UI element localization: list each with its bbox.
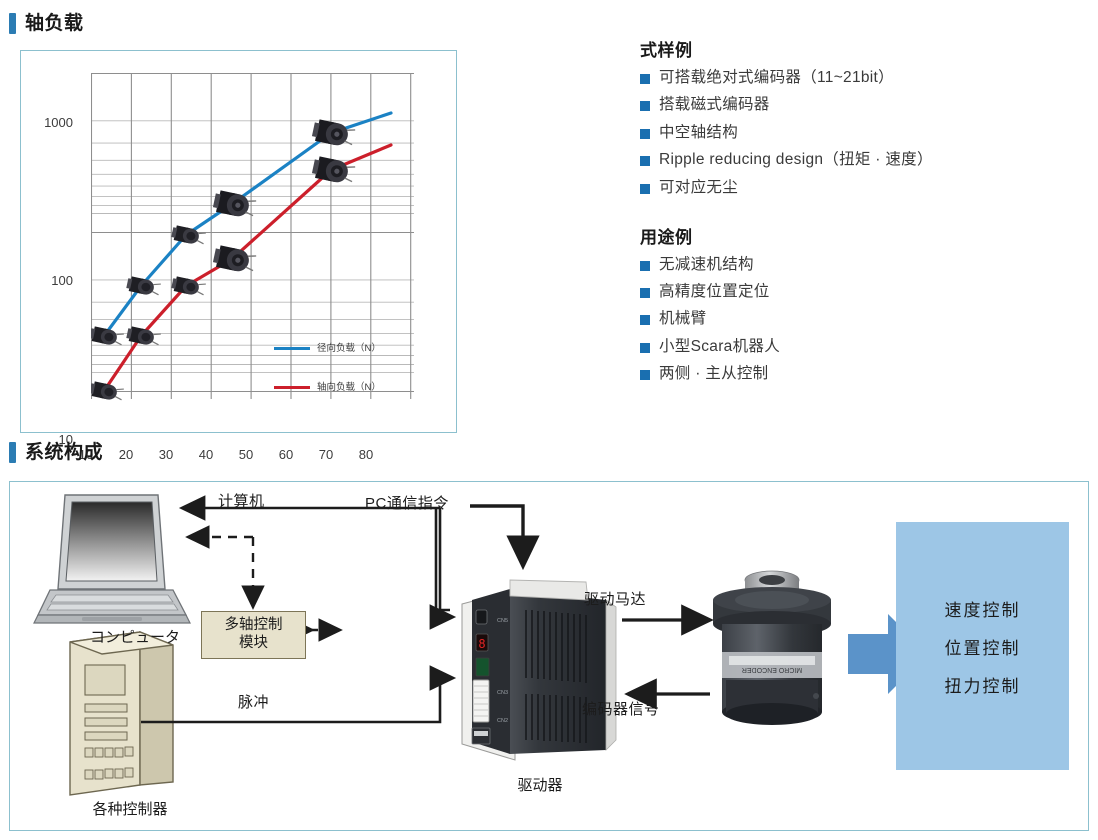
legend-entry-radial: 径向负载（N） xyxy=(274,340,381,354)
svg-text:CN3: CN3 xyxy=(497,690,508,696)
system-diagram: 8 CN5 CN3 CN2 xyxy=(10,482,1090,832)
bullet-square-icon xyxy=(640,101,650,111)
spec-group-title: 用途例 xyxy=(640,223,1060,248)
x-tick-label: 60 xyxy=(271,447,301,462)
page-root: 轴负载 1000 100 10 10 20 30 40 50 60 70 80 xyxy=(0,0,1098,840)
data-marker xyxy=(212,244,257,274)
legend-swatch-axial xyxy=(274,386,310,389)
section-title-text: 系统构成 xyxy=(25,443,103,462)
spec-item-text: 两侧 · 主从控制 xyxy=(659,364,768,385)
x-tick-label: 50 xyxy=(231,447,261,462)
control-mode-item: 位置控制 xyxy=(945,634,1021,659)
spec-item-text: 高精度位置定位 xyxy=(659,282,770,303)
spec-column: 式样例 可搭载绝对式编码器（11~21bit） 搭载磁式编码器 中空轴结构 Ri… xyxy=(640,36,1060,403)
caption-computer: コンピュータ xyxy=(55,626,215,647)
spec-item-text: 机械臂 xyxy=(659,309,706,330)
section-accent-bar xyxy=(9,442,16,463)
bullet-square-icon xyxy=(640,370,650,380)
svg-text:CN5: CN5 xyxy=(497,618,508,624)
edge-label-drive-motor: 驱动马达 xyxy=(584,588,646,609)
bullet-square-icon xyxy=(640,288,650,298)
y-tick-label: 1000 xyxy=(27,115,73,130)
spec-item-text: 小型Scara机器人 xyxy=(659,337,780,358)
control-mode-item: 速度控制 xyxy=(945,596,1021,621)
axial-load-chart-panel: 1000 100 10 10 20 30 40 50 60 70 80 xyxy=(20,50,457,433)
bullet-square-icon xyxy=(640,74,650,84)
data-marker xyxy=(171,225,206,247)
y-tick-label: 100 xyxy=(27,273,73,288)
x-tick-label: 70 xyxy=(311,447,341,462)
bullet-square-icon xyxy=(640,261,650,271)
legend-label-axial: 轴向负载（N） xyxy=(317,382,381,393)
spec-list-item: 可对应无尘 xyxy=(640,178,1060,199)
spec-list-item: 中空轴结构 xyxy=(640,123,1060,144)
spec-item-text: 中空轴结构 xyxy=(659,123,738,144)
module-label-line2: 模块 xyxy=(208,634,299,652)
spec-item-text: Ripple reducing design（扭矩 · 速度） xyxy=(659,150,933,171)
caption-driver: 驱动器 xyxy=(470,774,610,795)
bullet-square-icon xyxy=(640,343,650,353)
spec-group-title: 式样例 xyxy=(640,36,1060,61)
spec-list-item: Ripple reducing design（扭矩 · 速度） xyxy=(640,150,1060,171)
spec-item-text: 可对应无尘 xyxy=(659,178,738,199)
x-tick-label: 80 xyxy=(351,447,381,462)
axial-load-chart: 1000 100 10 10 20 30 40 50 60 70 80 xyxy=(21,51,458,434)
spec-list-item: 高精度位置定位 xyxy=(640,282,1060,303)
svg-text:MICRO ENCODER: MICRO ENCODER xyxy=(742,666,802,673)
svg-text:CN2: CN2 xyxy=(497,718,508,724)
module-label-line1: 多轴控制 xyxy=(208,616,299,634)
spec-item-text: 可搭载绝对式编码器（11~21bit） xyxy=(659,68,894,89)
diagram-connectors xyxy=(436,507,450,610)
multi-axis-control-module-box: 多轴控制 模块 xyxy=(201,611,306,659)
spec-list-item: 两侧 · 主从控制 xyxy=(640,364,1060,385)
legend-label-radial: 径向负载（N） xyxy=(317,343,381,354)
laptop-computer-illustration xyxy=(34,495,190,623)
controller-tower-illustration xyxy=(70,632,173,795)
spec-group-specifications: 式样例 可搭载绝对式编码器（11~21bit） 搭载磁式编码器 中空轴结构 Ri… xyxy=(640,36,1060,199)
bullet-square-icon xyxy=(640,129,650,139)
spec-item-text: 无减速机结构 xyxy=(659,255,754,276)
svg-text:8: 8 xyxy=(478,637,485,651)
bullet-square-icon xyxy=(640,184,650,194)
data-marker xyxy=(212,189,257,219)
bullet-square-icon xyxy=(640,315,650,325)
x-tick-label: 20 xyxy=(111,447,141,462)
spec-group-applications: 用途例 无减速机结构 高精度位置定位 机械臂 小型Scara机器人 两侧 · 主… xyxy=(640,223,1060,386)
section-accent-bar xyxy=(9,13,16,34)
edge-label-pc-command: PC通信指令 xyxy=(365,492,449,513)
spec-list-item: 小型Scara机器人 xyxy=(640,337,1060,358)
control-modes-box: 速度控制 位置控制 扭力控制 xyxy=(896,522,1069,770)
legend-swatch-radial xyxy=(274,347,310,350)
spec-list-item: 搭载磁式编码器 xyxy=(640,95,1060,116)
plot-svg xyxy=(91,73,414,405)
system-configuration-panel: 8 CN5 CN3 CN2 xyxy=(9,481,1089,831)
caption-controller: 各种控制器 xyxy=(45,798,215,819)
control-mode-item: 扭力控制 xyxy=(945,672,1021,697)
spec-list-item: 可搭载绝对式编码器（11~21bit） xyxy=(640,68,1060,89)
edge-label-encoder-signal: 编码器信号 xyxy=(582,698,660,719)
bullet-square-icon xyxy=(640,156,650,166)
spec-item-text: 搭载磁式编码器 xyxy=(659,95,770,116)
x-tick-label: 30 xyxy=(151,447,181,462)
spec-list-item: 机械臂 xyxy=(640,309,1060,330)
section-title-text: 轴负载 xyxy=(25,14,84,33)
edge-label-pulse: 脉冲 xyxy=(238,691,269,712)
hollow-shaft-motor-illustration: MICRO ENCODER xyxy=(713,571,831,725)
edge-label-computer: 计算机 xyxy=(218,490,265,511)
section-heading-axial-load: 轴负载 xyxy=(9,13,84,34)
legend-entry-axial: 轴向负载（N） xyxy=(274,379,381,393)
section-heading-system: 系统构成 xyxy=(9,442,103,463)
x-tick-label: 40 xyxy=(191,447,221,462)
spec-list-item: 无减速机结构 xyxy=(640,255,1060,276)
